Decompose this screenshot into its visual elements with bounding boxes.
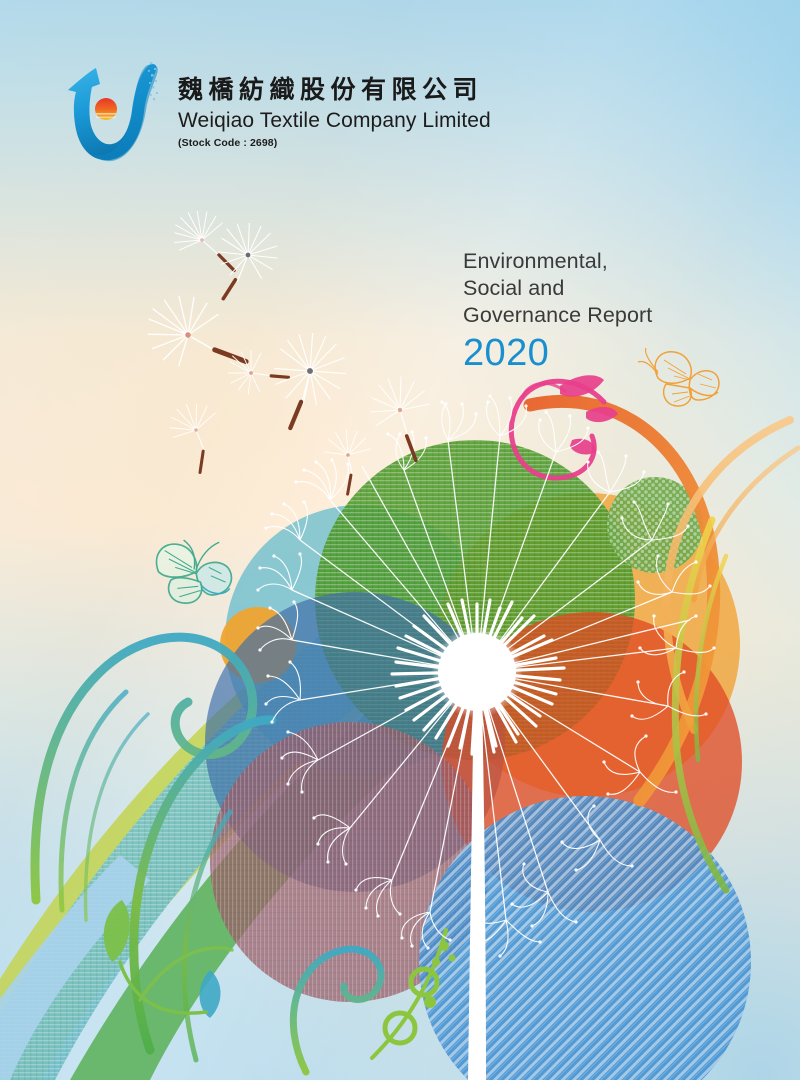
company-name-english: Weiqiao Textile Company Limited xyxy=(178,108,491,133)
report-year: 2020 xyxy=(463,331,652,375)
butterfly-green-icon xyxy=(157,540,232,603)
floating-seeds xyxy=(144,203,434,496)
swirl-pink-petals xyxy=(560,375,618,454)
report-title-line-1: Environmental, xyxy=(463,248,652,275)
report-title-line-2: Social and xyxy=(463,275,652,302)
report-title-line-3: Governance Report xyxy=(463,302,652,329)
company-name-chinese: 魏橋紡織股份有限公司 xyxy=(178,76,491,105)
report-cover: 魏橋紡織股份有限公司 Weiqiao Textile Company Limit… xyxy=(0,0,800,1080)
weiqiao-w-logo-icon xyxy=(62,60,170,165)
stock-code-label: (Stock Code : 2698) xyxy=(178,137,491,149)
brand-text-block: 魏橋紡織股份有限公司 Weiqiao Textile Company Limit… xyxy=(178,58,491,149)
brand-header: 魏橋紡織股份有限公司 Weiqiao Textile Company Limit… xyxy=(62,58,491,165)
report-title-block: Environmental, Social and Governance Rep… xyxy=(463,248,652,375)
